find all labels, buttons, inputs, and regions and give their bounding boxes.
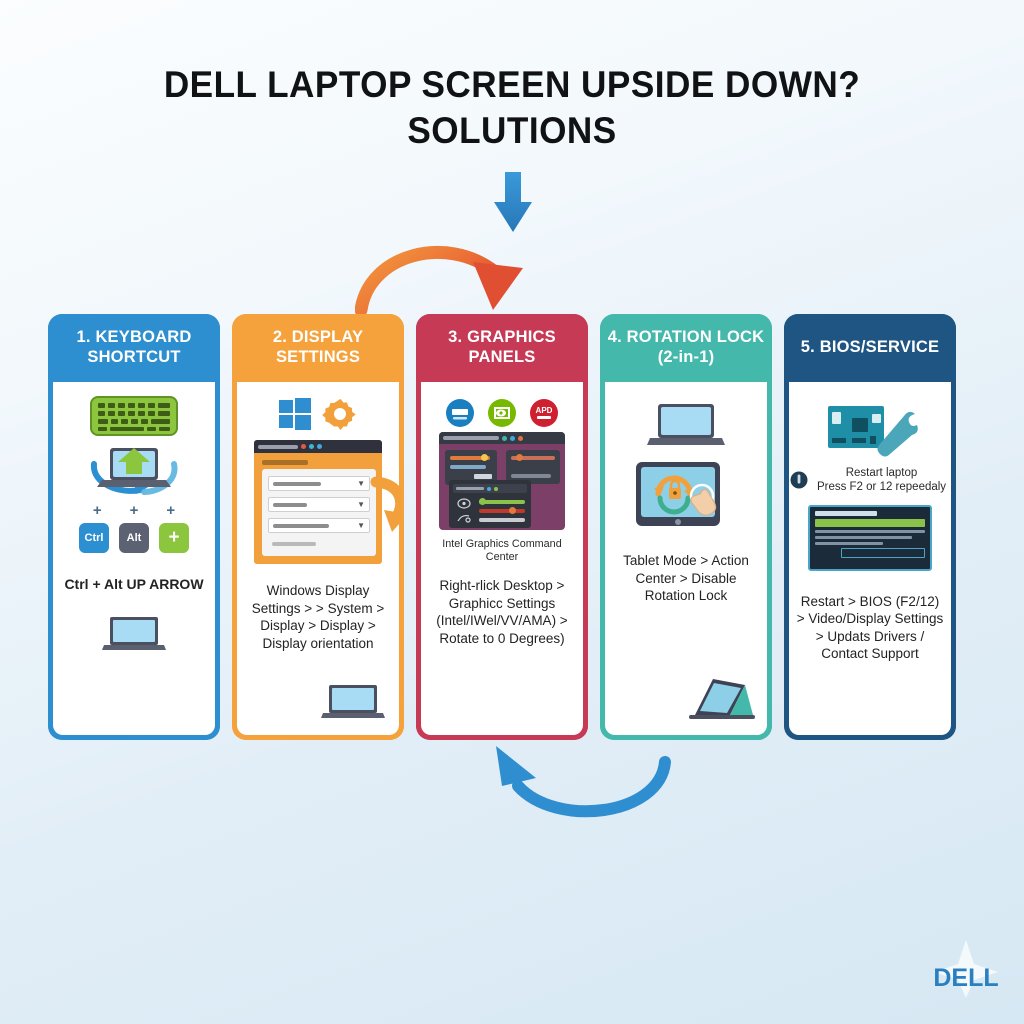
card-rotation-lock[interactable]: 4. ROTATION LOCK (2-in-1) [600, 314, 772, 740]
key-alt[interactable]: Alt [119, 523, 149, 553]
card-graphics-panels[interactable]: 3. GRAPHICS PANELS APD [416, 314, 588, 740]
card-title-1: 1. KEYBOARD SHORTCUT [48, 314, 220, 382]
chevron-down-icon: ▼ [357, 480, 365, 488]
graphics-control-panel-mock[interactable] [439, 432, 565, 530]
laptop-icon [102, 615, 166, 653]
bios-input-field[interactable] [841, 548, 925, 558]
page-title-line-1: DELL LAPTOP SCREEN UPSIDE DOWN? [26, 62, 999, 108]
orientation-select-3[interactable]: ▼ [268, 518, 370, 533]
amd-logo-icon: APD [529, 398, 559, 428]
svg-text:APD: APD [536, 406, 553, 415]
tent-mode-laptop-icon [679, 675, 757, 723]
tablet-rotation-lock-icon [634, 460, 738, 534]
bios-row [815, 542, 883, 545]
card-caption-3: Right-rlick Desktop > Graphicc Settings … [421, 577, 583, 647]
laptop-icon [647, 402, 725, 450]
bios-highlight-row [815, 519, 925, 527]
card-caption-4: Tablet Mode > Action Center > Disable Ro… [605, 552, 767, 605]
key-row: Ctrl Alt + [79, 523, 189, 553]
bios-title [815, 511, 877, 516]
key-plus[interactable]: + [159, 523, 189, 553]
gfx-pane-front [449, 480, 531, 528]
gfx-pane-right [506, 450, 560, 484]
laptop-icon [321, 683, 385, 721]
key-ctrl[interactable]: Ctrl [79, 523, 109, 553]
plus-sep-3: + [166, 502, 175, 519]
solution-cards: 1. KEYBOARD SHORTCUT [48, 314, 992, 740]
card-title-5: 5. BIOS/SERVICE [784, 314, 956, 382]
chevron-down-icon: ▼ [357, 501, 365, 509]
windows-logo-icon [278, 397, 312, 431]
gfx-title-bar [439, 432, 565, 444]
bottom-curved-arrow-icon [460, 742, 675, 834]
dialog-title-bar [254, 440, 382, 453]
chevron-down-icon: ▼ [357, 522, 365, 530]
vendor-logo-row: APD [445, 398, 559, 428]
circuit-board-icon [822, 398, 918, 460]
dell-logo-text: DELL [933, 964, 998, 992]
plus-sep-2: + [130, 502, 139, 519]
card-title-2: 2. DISPLAY SETTINGS [232, 314, 404, 382]
plus-sep-1: + [93, 502, 102, 519]
power-button-icon [790, 471, 808, 489]
page-title-line-2: SOLUTIONS [26, 108, 999, 154]
laptop-rotate-icon [86, 442, 182, 496]
dialog-hint-text [268, 539, 370, 549]
card-caption-5: Restart > BIOS (F2/12) > Video/Display S… [789, 593, 951, 663]
restart-line-1: Restart laptop [813, 466, 950, 480]
card-caption-1: Ctrl + Alt UP ARROW [58, 575, 209, 593]
page-title: DELL LAPTOP SCREEN UPSIDE DOWN? SOLUTION… [0, 62, 1024, 155]
plus-separators: + + + [93, 502, 175, 519]
card-caption-2: Windows Display Settings > > System > Di… [237, 582, 399, 652]
card-title-3: 3. GRAPHICS PANELS [416, 314, 588, 382]
bios-screen-mock[interactable] [808, 505, 932, 571]
orange-curved-arrow-icon [355, 228, 555, 318]
dell-logo: DELL [922, 938, 1010, 1000]
bios-row [815, 536, 912, 539]
restart-line-2: Press F2 or 12 repeedaly [813, 480, 950, 494]
card-title-4: 4. ROTATION LOCK (2-in-1) [600, 314, 772, 382]
settings-dialog-mock[interactable]: ▼ ▼ ▼ [254, 440, 382, 564]
rotate-arrow-icon [370, 476, 404, 534]
orientation-select-2[interactable]: ▼ [268, 497, 370, 512]
card-bios-service[interactable]: 5. BIOS/SERVICE [784, 314, 956, 740]
card-display-settings[interactable]: 2. DISPLAY SETTINGS [232, 314, 404, 740]
bios-row [815, 530, 925, 533]
gpu-icon [457, 513, 471, 524]
display-icon [457, 498, 471, 509]
card-subcaption-3: Intel Graphics Command Center [421, 538, 583, 565]
intel-logo-icon [445, 398, 475, 428]
dialog-section-label [262, 460, 308, 465]
nvidia-logo-icon [487, 398, 517, 428]
orientation-select-1[interactable]: ▼ [268, 476, 370, 491]
keyboard-icon [90, 396, 178, 436]
card-keyboard-shortcut[interactable]: 1. KEYBOARD SHORTCUT [48, 314, 220, 740]
gear-icon [322, 396, 358, 432]
down-arrow-icon [487, 172, 539, 234]
